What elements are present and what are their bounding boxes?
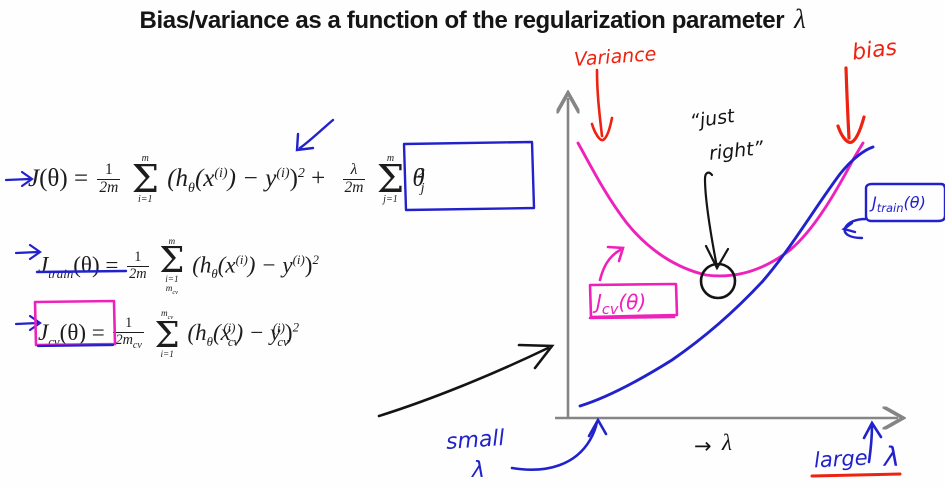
arrow-just-right [705, 173, 728, 268]
eq-cv-sigma: Σ [155, 321, 180, 350]
eq-cost-reg-den: 2m [343, 179, 366, 197]
eq-cv-lhs-sub: cv [48, 335, 59, 349]
box-jtrain-callout [866, 184, 945, 221]
eq-cv-x-sup: (i) [223, 321, 235, 335]
arrow-diagonal-black [379, 345, 552, 416]
eq-train-equals: = [105, 253, 118, 278]
annotation-jtrain-callout-label: Jtrain(θ) [872, 193, 926, 215]
jcv-callout-theta: (θ) [618, 290, 646, 314]
arrow-large-lambda [864, 423, 881, 462]
annotation-large-lambda-word: large [813, 446, 868, 473]
eq-cv-body4: ) [285, 320, 293, 345]
eq-cost-body1: (h [167, 165, 188, 192]
arrow-jtrain-pointer [844, 219, 866, 238]
page-title-text: Bias/variance as a function of the regul… [140, 7, 785, 34]
xaxis-label-lambda: λ [722, 430, 732, 456]
arrow-variance [592, 70, 612, 140]
eq-cost-equals: = [74, 165, 88, 192]
eq-cost-sigma: Σ [132, 164, 159, 196]
eq-cost-regularization-term: λ 2m m Σ j=1 θj2 [332, 155, 431, 206]
eq-cv-lhs: J [38, 320, 48, 345]
eq-cost-frac-num: 1 [97, 162, 120, 179]
eq-cost-reg-summation: m Σ j=1 [377, 154, 404, 205]
eq-train-summation: m Σ i=1 mcv [159, 237, 184, 296]
annotation-bias-label: bias [851, 35, 899, 65]
arrow-small-lambda [512, 420, 606, 470]
xaxis-label-arrow: → [694, 434, 712, 458]
eq-cost-lhs: J [28, 165, 39, 192]
eq-train-y-sup: (i) [293, 253, 305, 267]
eq-train-body1: (h [192, 253, 211, 278]
jcv-callout-j: J [596, 290, 602, 314]
annotation-small-lambda-symbol: λ [472, 458, 485, 483]
eq-train-fraction: 1 2m [127, 250, 148, 282]
eq-train-frac-num: 1 [127, 250, 148, 265]
jtrain-callout-theta: (θ) [904, 193, 926, 212]
eq-cost-summation: m Σ i=1 [132, 154, 159, 205]
annotation-just-right-line1: “just [689, 105, 736, 133]
arrow-marker-cv-equation [16, 316, 40, 330]
eq-cv-theta: (θ) [60, 320, 86, 345]
eq-cost-body3: ) − y [228, 165, 277, 192]
jtrain-callout-j: J [872, 193, 877, 212]
eq-cv-body1: (h [187, 320, 206, 345]
eq-cv-y-sup: (i) [273, 321, 285, 335]
eq-cv-summation: mcv Σ i=1 [155, 309, 180, 359]
eq-train-body2: (x [218, 253, 236, 278]
eq-train-square: 2 [312, 253, 318, 267]
eq-cost-square: 2 [298, 166, 305, 181]
eq-cv-frac-den: 2m [115, 332, 132, 348]
eq-cv-square: 2 [293, 321, 299, 335]
eq-cost-reg-num: λ [343, 162, 366, 179]
underline-jcv-callout [590, 317, 674, 318]
annotation-just-right-line2: right” [708, 137, 765, 165]
eq-cost-x-sup: (i) [214, 166, 227, 181]
eq-cost-theta: (θ) [39, 165, 68, 192]
eq-cost-fraction: 1 2m [97, 162, 120, 196]
eq-train-frac-den: 2m [127, 266, 148, 282]
slide-canvas: Bias/variance as a function of the regul… [0, 0, 945, 488]
eq-train-lhs: J [38, 253, 48, 278]
eq-cv-equals: = [92, 320, 105, 345]
page-title: Bias/variance as a function of the regul… [0, 4, 945, 35]
equation-cost-function: J(θ) = 1 2m m Σ i=1 (hθ(x(i)) − y(i))2 +… [28, 155, 431, 206]
eq-train-sum-bot2-sub: cv [172, 289, 178, 296]
eq-cost-plus: + [311, 165, 325, 192]
eq-cv-frac-den-sub: cv [133, 340, 142, 351]
eq-cost-frac-den: 2m [97, 179, 120, 197]
eq-train-theta: (θ) [73, 253, 99, 278]
eq-cost-reg-fraction: λ 2m [343, 162, 366, 196]
eq-cost-reg-theta-sub: j [421, 181, 425, 196]
marker-just-right-circle [701, 264, 735, 298]
jcv-callout-sub: cv [602, 302, 618, 318]
annotation-variance-label: Variance [573, 43, 657, 71]
curve-jcv [578, 143, 863, 276]
eq-cost-y-sup: (i) [276, 166, 289, 181]
eq-cost-reg-sigma: Σ [377, 164, 404, 196]
arrow-marker-regularization [297, 120, 333, 150]
equation-j-cv: Jcv(θ) = 1 2mcv mcv Σ i=1 (hθ(xcv(i)) − … [38, 310, 299, 360]
eq-cv-frac-num: 1 [113, 316, 143, 331]
eq-cv-fraction: 1 2mcv [113, 316, 143, 351]
underline-large-lambda [812, 474, 900, 476]
annotation-small-lambda-word: small [445, 426, 505, 455]
jtrain-callout-sub: train [877, 201, 904, 215]
eq-train-x-sup: (i) [236, 253, 248, 267]
eq-cost-body4: ) [290, 165, 298, 192]
chart-axes [555, 98, 898, 418]
eq-train-sum-bot2: mcv [159, 284, 184, 296]
eq-train-lhs-sub: train [48, 267, 73, 281]
box-jcv-callout [590, 284, 677, 317]
annotation-large-lambda-symbol: λ [884, 442, 900, 473]
eq-cost-body2: (x [195, 165, 214, 192]
eq-cost-h-sub: θ [188, 181, 195, 196]
eq-cost-reg-theta-sup: 2 [418, 166, 425, 181]
page-title-lambda: λ [784, 4, 805, 34]
annotation-jcv-callout-label: Jcv(θ) [596, 290, 646, 318]
arrow-bias [838, 68, 864, 142]
eq-train-sigma: Σ [159, 246, 184, 275]
arrow-jcv-callout [600, 247, 623, 280]
curve-jtrain [580, 147, 873, 406]
eq-cv-frac-den-wrap: 2mcv [113, 332, 143, 352]
eq-train-body3: ) − y [248, 253, 293, 278]
arrow-marker-train-equation [16, 245, 40, 259]
equation-j-train: Jtrain(θ) = 1 2m m Σ i=1 mcv (hθ(x(i)) −… [38, 238, 319, 297]
